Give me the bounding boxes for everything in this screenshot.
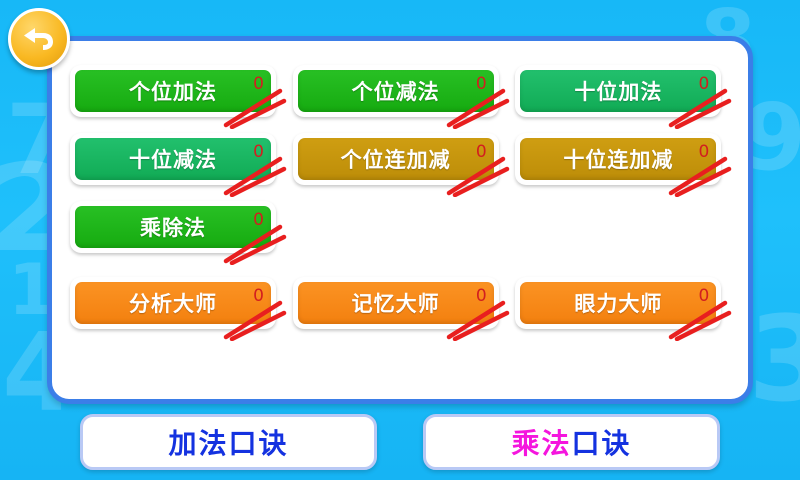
topic-button-4[interactable]: 个位连加减 0 bbox=[293, 133, 499, 185]
main-panel: 个位加法 0 个位减法 0 bbox=[47, 36, 753, 404]
topic-face: 十位连加减 bbox=[520, 138, 716, 180]
addition-formula-button[interactable]: 加法 口诀 bbox=[80, 414, 377, 470]
back-button[interactable] bbox=[8, 8, 70, 70]
topic-label: 眼力大师 bbox=[574, 288, 662, 318]
topic-face: 个位连加减 bbox=[298, 138, 494, 180]
topic-count: 0 bbox=[253, 74, 264, 94]
multiplication-formula-label-main: 乘法 bbox=[511, 422, 571, 462]
topic-label: 十位连加减 bbox=[563, 144, 673, 174]
topic-row: 乘除法 0 bbox=[66, 197, 734, 265]
addition-formula-label-main: 加法 bbox=[168, 422, 228, 462]
topic-button-1[interactable]: 个位减法 0 bbox=[293, 65, 499, 117]
topic-face: 分析大师 bbox=[75, 282, 271, 324]
topic-count: 0 bbox=[699, 142, 710, 162]
topic-label: 个位减法 bbox=[352, 76, 440, 106]
topic-cell: 分析大师 0 bbox=[66, 273, 289, 341]
topic-button-3[interactable]: 十位减法 0 bbox=[70, 133, 276, 185]
topic-face: 个位减法 bbox=[298, 70, 494, 112]
topic-label: 个位连加减 bbox=[341, 144, 451, 174]
topic-cell: 记忆大师 0 bbox=[289, 273, 512, 341]
topic-label: 十位加法 bbox=[574, 76, 662, 106]
topic-count: 0 bbox=[699, 286, 710, 306]
topic-face: 记忆大师 bbox=[298, 282, 494, 324]
topic-button-0[interactable]: 个位加法 0 bbox=[70, 65, 276, 117]
back-arrow-icon bbox=[21, 24, 57, 54]
topic-button-2[interactable]: 十位加法 0 bbox=[515, 65, 721, 117]
topic-label: 乘除法 bbox=[140, 212, 206, 242]
topic-face: 眼力大师 bbox=[520, 282, 716, 324]
topic-grid: 个位加法 0 个位减法 0 bbox=[52, 41, 748, 399]
topic-button-6[interactable]: 乘除法 0 bbox=[70, 201, 276, 253]
topic-button-5[interactable]: 十位连加减 0 bbox=[515, 133, 721, 185]
topic-count: 0 bbox=[699, 74, 710, 94]
topic-face: 十位减法 bbox=[75, 138, 271, 180]
multiplication-formula-label-tail: 口诀 bbox=[572, 422, 632, 462]
topic-count: 0 bbox=[476, 142, 487, 162]
topic-label: 记忆大师 bbox=[352, 288, 440, 318]
topic-row: 十位减法 0 个位连加减 0 bbox=[66, 129, 734, 197]
topic-button-7[interactable]: 分析大师 0 bbox=[70, 277, 276, 329]
topic-face: 个位加法 bbox=[75, 70, 271, 112]
topic-cell: 个位连加减 0 bbox=[289, 129, 512, 197]
topic-label: 分析大师 bbox=[129, 288, 217, 318]
topic-count: 0 bbox=[476, 74, 487, 94]
topic-count: 0 bbox=[476, 286, 487, 306]
decor-number: 3 bbox=[748, 300, 800, 418]
topic-count: 0 bbox=[253, 142, 264, 162]
topic-count: 0 bbox=[253, 210, 264, 230]
topic-count: 0 bbox=[253, 286, 264, 306]
topic-row: 个位加法 0 个位减法 0 bbox=[66, 61, 734, 129]
topic-label: 个位加法 bbox=[129, 76, 217, 106]
topic-button-9[interactable]: 眼力大师 0 bbox=[515, 277, 721, 329]
topic-cell: 眼力大师 0 bbox=[511, 273, 734, 341]
bottom-button-bar: 加法 口诀 乘法 口诀 bbox=[0, 414, 800, 470]
topic-face: 乘除法 bbox=[75, 206, 271, 248]
topic-cell: 十位连加减 0 bbox=[511, 129, 734, 197]
topic-cell: 个位减法 0 bbox=[289, 61, 512, 129]
topic-label: 十位减法 bbox=[129, 144, 217, 174]
topic-row: 分析大师 0 记忆大师 0 bbox=[66, 273, 734, 341]
topic-face: 十位加法 bbox=[520, 70, 716, 112]
topic-cell: 十位减法 0 bbox=[66, 129, 289, 197]
topic-cell: 个位加法 0 bbox=[66, 61, 289, 129]
multiplication-formula-button[interactable]: 乘法 口诀 bbox=[423, 414, 720, 470]
topic-button-8[interactable]: 记忆大师 0 bbox=[293, 277, 499, 329]
topic-cell: 乘除法 0 bbox=[66, 197, 289, 265]
topic-cell: 十位加法 0 bbox=[511, 61, 734, 129]
addition-formula-label-tail: 口诀 bbox=[229, 422, 289, 462]
